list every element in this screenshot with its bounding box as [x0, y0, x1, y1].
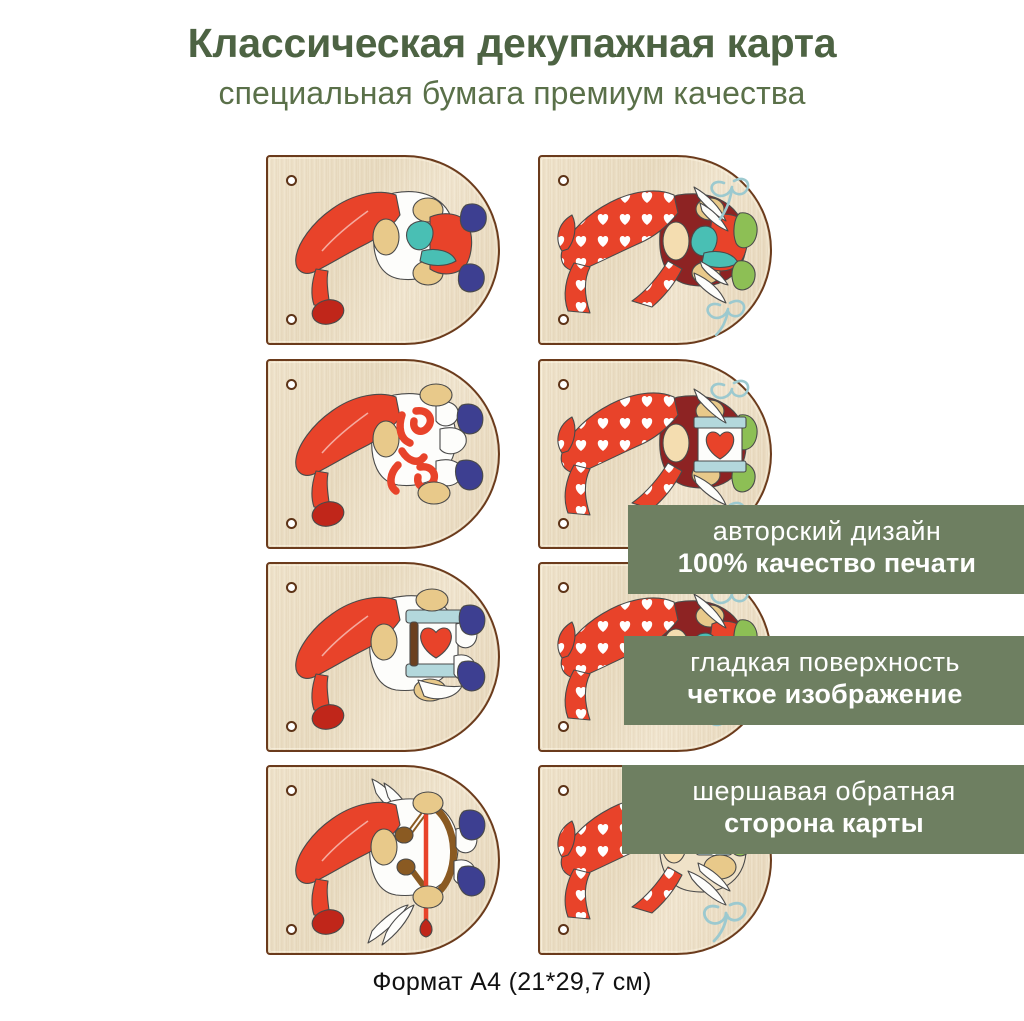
gnome-with-love-sign-art — [276, 369, 494, 543]
wooden-tag[interactable] — [266, 155, 500, 345]
badge-line-bold: 100% качество печати — [652, 548, 1002, 580]
wooden-tag[interactable] — [266, 765, 500, 955]
feature-badge-surface: гладкая поверхность четкое изображение — [624, 636, 1024, 725]
page-title: Классическая декупажная карта — [0, 0, 1024, 65]
page-footer: Формат А4 (21*29,7 см) — [0, 968, 1024, 997]
gnome-with-heart-gift-art — [276, 572, 494, 746]
gnome-with-gift-bundle-art — [276, 165, 494, 339]
wooden-tag[interactable] — [266, 359, 500, 549]
feature-badge-design: авторский дизайн 100% качество печати — [628, 505, 1024, 594]
format-caption: Формат А4 (21*29,7 см) — [372, 968, 651, 996]
gnome-with-gift-bundle-art — [548, 165, 766, 339]
cupid-gnome-bow-wings-art — [276, 775, 494, 949]
badge-line-regular: гладкая поверхность — [648, 647, 1002, 679]
wooden-tag[interactable] — [538, 155, 772, 345]
badge-line-bold: сторона карты — [646, 808, 1002, 840]
page-subtitle: специальная бумага премиум качества — [0, 65, 1024, 111]
feature-badge-reverse-side: шершавая обратная сторона карты — [622, 765, 1024, 854]
wooden-tag[interactable] — [266, 562, 500, 752]
badge-line-bold: четкое изображение — [648, 679, 1002, 711]
badge-line-regular: шершавая обратная — [646, 776, 1002, 808]
page-header: Классическая декупажная карта специальна… — [0, 0, 1024, 111]
badge-line-regular: авторский дизайн — [652, 516, 1002, 548]
